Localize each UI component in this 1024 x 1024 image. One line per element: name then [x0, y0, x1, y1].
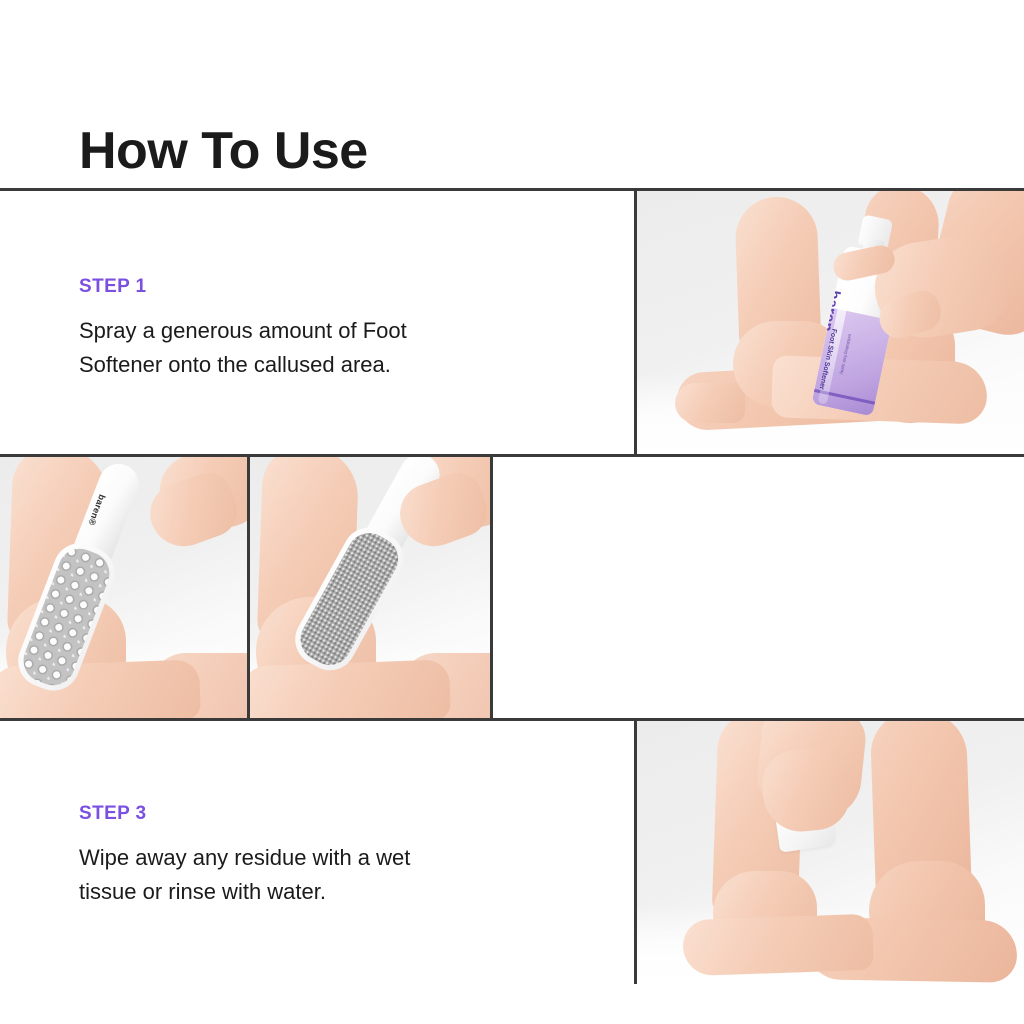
step-2-photo-back: [250, 457, 493, 718]
left-foot-shape: [682, 914, 874, 977]
step-3-block: STEP 3 Wipe away any residue with a wet …: [79, 803, 410, 909]
step-1-block: STEP 1 Spray a generous amount of Foot S…: [79, 276, 407, 382]
step-row-1: STEP 1 Spray a generous amount of Foot S…: [0, 191, 1024, 457]
steps-grid: STEP 1 Spray a generous amount of Foot S…: [0, 188, 1024, 984]
step-3-text-cell: STEP 3 Wipe away any residue with a wet …: [0, 721, 637, 984]
step-2a-scene: baren®: [0, 457, 247, 718]
file-brand-text: baren®: [86, 493, 107, 527]
step-2-photo-front: baren®: [0, 457, 250, 718]
page-title: How To Use: [79, 123, 368, 180]
step-3-body: Wipe away any residue with a wet tissue …: [79, 841, 410, 909]
step-1-photo: baren Foot Skin Softener exfoliating foo…: [637, 191, 1024, 454]
step-2b-scene: [250, 457, 490, 718]
step-row-3: STEP 3 Wipe away any residue with a wet …: [0, 721, 1024, 984]
step-1-text-cell: STEP 1 Spray a generous amount of Foot S…: [0, 191, 637, 454]
step-3-label: STEP 3: [79, 803, 410, 825]
foot-shape: [250, 659, 451, 718]
step-1-label: STEP 1: [79, 276, 407, 298]
step-1-scene: baren Foot Skin Softener exfoliating foo…: [637, 191, 1024, 454]
how-to-use-infographic: How To Use STEP 1 Spray a generous amoun…: [0, 0, 1024, 1024]
step-2-text-cell: STEP 2 After 1 minute, gently exfoliate …: [493, 457, 1024, 718]
toes-back-shape: [675, 383, 745, 423]
step-row-2: baren®: [0, 457, 1024, 721]
step-3-scene: [637, 721, 1024, 984]
step-3-photo: [637, 721, 1024, 984]
step-1-body: Spray a generous amount of Foot Softener…: [79, 314, 407, 382]
